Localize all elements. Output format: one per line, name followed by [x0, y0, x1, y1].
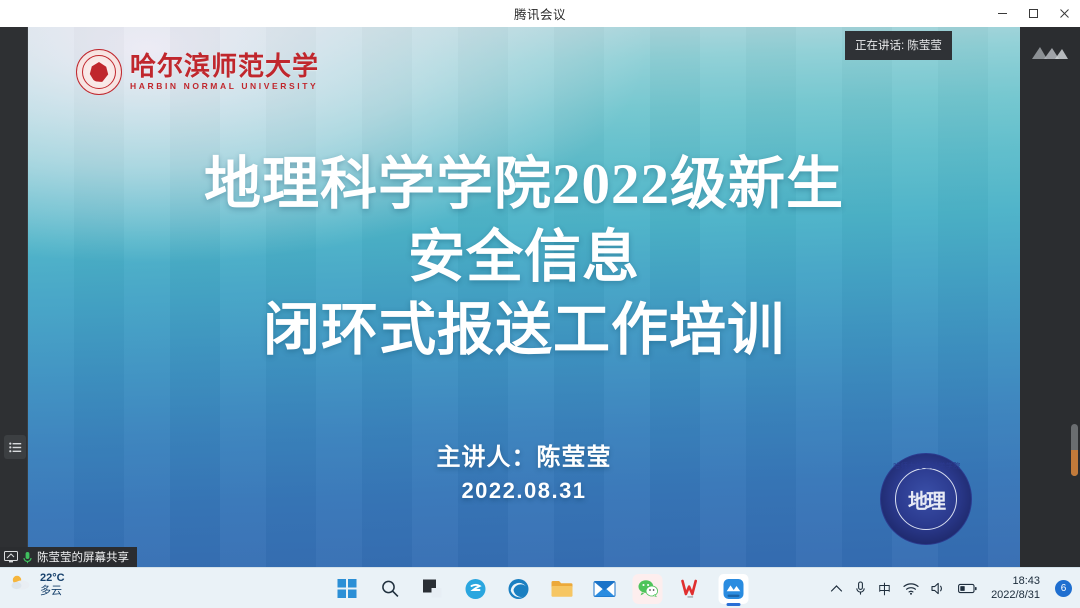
mail-button[interactable]: [590, 574, 620, 604]
system-tray: 中: [830, 568, 1072, 608]
department-badge-ring-text: 哈师大地理科学学院: [881, 461, 973, 471]
right-sidebar-rail: [1023, 27, 1080, 567]
slide-headline: 地理科学学院2022级新生 安全信息 闭环式报送工作培训: [28, 149, 1020, 368]
slide-presenter-block: 主讲人：陈莹莹 2022.08.31: [28, 437, 1020, 504]
microphone-icon[interactable]: [855, 581, 866, 596]
tencent-meeting-button[interactable]: [719, 574, 749, 604]
task-view-button[interactable]: [418, 574, 448, 604]
window-controls: [987, 0, 1080, 27]
chevron-up-icon[interactable]: [830, 584, 843, 593]
active-app-indicator: [727, 603, 741, 606]
university-logo: 哈尔滨师范大学 HARBIN NORMAL UNIVERSITY: [76, 49, 319, 95]
presentation-date: 2022.08.31: [28, 478, 1020, 504]
screen-share-label: 陈莹莹的屏幕共享: [0, 547, 137, 567]
monitor-icon: [4, 551, 18, 563]
volume-icon[interactable]: [931, 582, 946, 595]
weather-temperature: 22°C: [40, 572, 65, 585]
wechat-button[interactable]: [633, 574, 663, 604]
weather-widget[interactable]: 22°C 多云: [8, 572, 65, 597]
battery-icon[interactable]: [958, 583, 977, 594]
window-title: 腾讯会议: [514, 4, 566, 23]
headline-line-2: 安全信息: [28, 222, 1020, 295]
sound-wave-icon: [1028, 35, 1072, 69]
screen: 腾讯会议: [0, 0, 1080, 608]
clock-time: 18:43: [1012, 575, 1040, 588]
search-button[interactable]: [375, 574, 405, 604]
file-explorer-button[interactable]: [547, 574, 577, 604]
weather-condition: 多云: [40, 585, 65, 598]
list-icon[interactable]: [4, 435, 26, 459]
clock[interactable]: 18:43 2022/8/31: [991, 575, 1040, 601]
browser-360-button[interactable]: [461, 574, 491, 604]
vertical-scrollbar[interactable]: [1071, 424, 1078, 476]
university-name-en: HARBIN NORMAL UNIVERSITY: [130, 81, 319, 91]
department-badge-center: 地理: [895, 468, 957, 530]
wps-button[interactable]: [676, 574, 706, 604]
university-name-cn: 哈尔滨师范大学: [130, 53, 319, 80]
department-badge: 哈师大地理科学学院 地理: [880, 453, 972, 545]
screen-share-label-text: 陈莹莹的屏幕共享: [37, 549, 129, 565]
taskbar: 22°C 多云: [0, 567, 1080, 608]
ime-indicator[interactable]: 中: [878, 579, 891, 598]
close-icon[interactable]: [1049, 0, 1080, 27]
wifi-icon[interactable]: [903, 582, 919, 595]
taskbar-app-list: [332, 568, 749, 608]
microphone-icon: [22, 551, 33, 564]
left-sidebar-rail: [0, 27, 28, 567]
headline-line-3: 闭环式报送工作培训: [28, 295, 1020, 368]
university-seal-icon: [76, 49, 122, 95]
minimize-icon[interactable]: [987, 0, 1018, 27]
meeting-window-body: 哈尔滨师范大学 HARBIN NORMAL UNIVERSITY 地理科学学院2…: [0, 27, 1080, 567]
maximize-icon[interactable]: [1018, 0, 1049, 27]
notification-badge[interactable]: 6: [1055, 580, 1072, 597]
sun-behind-cloud-icon: [8, 572, 34, 597]
clock-date: 2022/8/31: [991, 589, 1040, 602]
shared-screen-slide: 哈尔滨师范大学 HARBIN NORMAL UNIVERSITY 地理科学学院2…: [28, 27, 1020, 567]
presenter-name: 主讲人：陈莹莹: [28, 437, 1020, 472]
window-title-bar: 腾讯会议: [0, 0, 1080, 27]
start-button[interactable]: [332, 574, 362, 604]
edge-button[interactable]: [504, 574, 534, 604]
speaking-indicator: 正在讲话: 陈莹莹: [845, 31, 952, 60]
headline-line-1: 地理科学学院2022级新生: [28, 149, 1020, 222]
